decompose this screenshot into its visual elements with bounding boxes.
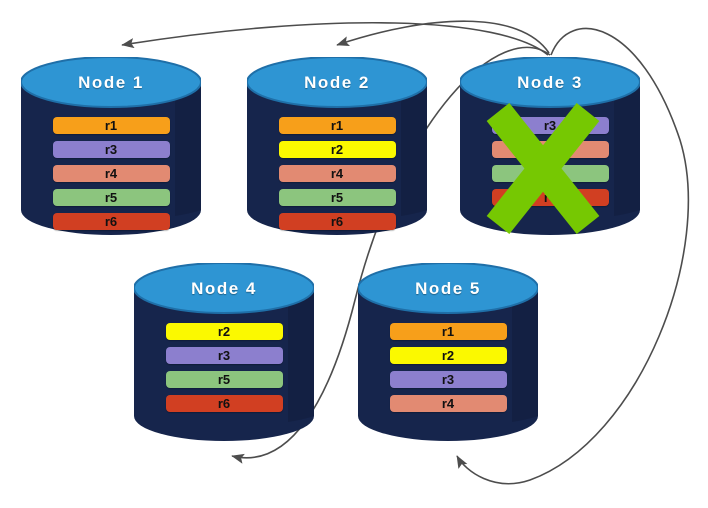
arrow-node3-to-node2: [337, 21, 549, 53]
node-title: Node 1: [21, 73, 201, 93]
replica-bar[interactable]: r2: [166, 323, 283, 340]
replica-bar[interactable]: r5: [53, 189, 170, 206]
replica-bar[interactable]: r5: [279, 189, 396, 206]
replica-bar[interactable]: r6: [279, 213, 396, 230]
node-cylinder-4[interactable]: Node 4r2r3r5r6: [134, 263, 314, 441]
replica-bar[interactable]: r3: [166, 347, 283, 364]
replica-list: r3r4r5r6: [460, 117, 640, 206]
replica-bar[interactable]: r2: [390, 347, 507, 364]
diagram-canvas: Node 1r1r3r4r5r6Node 2r1r2r4r5r6Node 3r3…: [0, 0, 708, 508]
replica-bar[interactable]: r6: [166, 395, 283, 412]
replica-bar[interactable]: r2: [279, 141, 396, 158]
node-title: Node 3: [460, 73, 640, 93]
replica-list: r1r2r4r5r6: [247, 117, 427, 230]
replica-list: r1r3r4r5r6: [21, 117, 201, 230]
replica-bar[interactable]: r3: [53, 141, 170, 158]
replica-bar[interactable]: r5: [492, 165, 609, 182]
replica-bar[interactable]: r6: [53, 213, 170, 230]
replica-bar[interactable]: r4: [53, 165, 170, 182]
arrow-node3-to-node1: [122, 23, 548, 55]
node-cylinder-5[interactable]: Node 5r1r2r3r4: [358, 263, 538, 441]
replica-bar[interactable]: r1: [390, 323, 507, 340]
replica-list: r1r2r3r4: [358, 323, 538, 412]
replica-bar[interactable]: r3: [492, 117, 609, 134]
replica-list: r2r3r5r6: [134, 323, 314, 412]
replica-bar[interactable]: r4: [390, 395, 507, 412]
node-title: Node 2: [247, 73, 427, 93]
node-cylinder-3[interactable]: Node 3r3r4r5r6: [460, 57, 640, 235]
replica-bar[interactable]: r1: [279, 117, 396, 134]
replica-bar[interactable]: r4: [279, 165, 396, 182]
replica-bar[interactable]: r3: [390, 371, 507, 388]
replica-bar[interactable]: r5: [166, 371, 283, 388]
node-title: Node 5: [358, 279, 538, 299]
node-cylinder-2[interactable]: Node 2r1r2r4r5r6: [247, 57, 427, 235]
replica-bar[interactable]: r6: [492, 189, 609, 206]
replica-bar[interactable]: r4: [492, 141, 609, 158]
replica-bar[interactable]: r1: [53, 117, 170, 134]
node-cylinder-1[interactable]: Node 1r1r3r4r5r6: [21, 57, 201, 235]
node-title: Node 4: [134, 279, 314, 299]
